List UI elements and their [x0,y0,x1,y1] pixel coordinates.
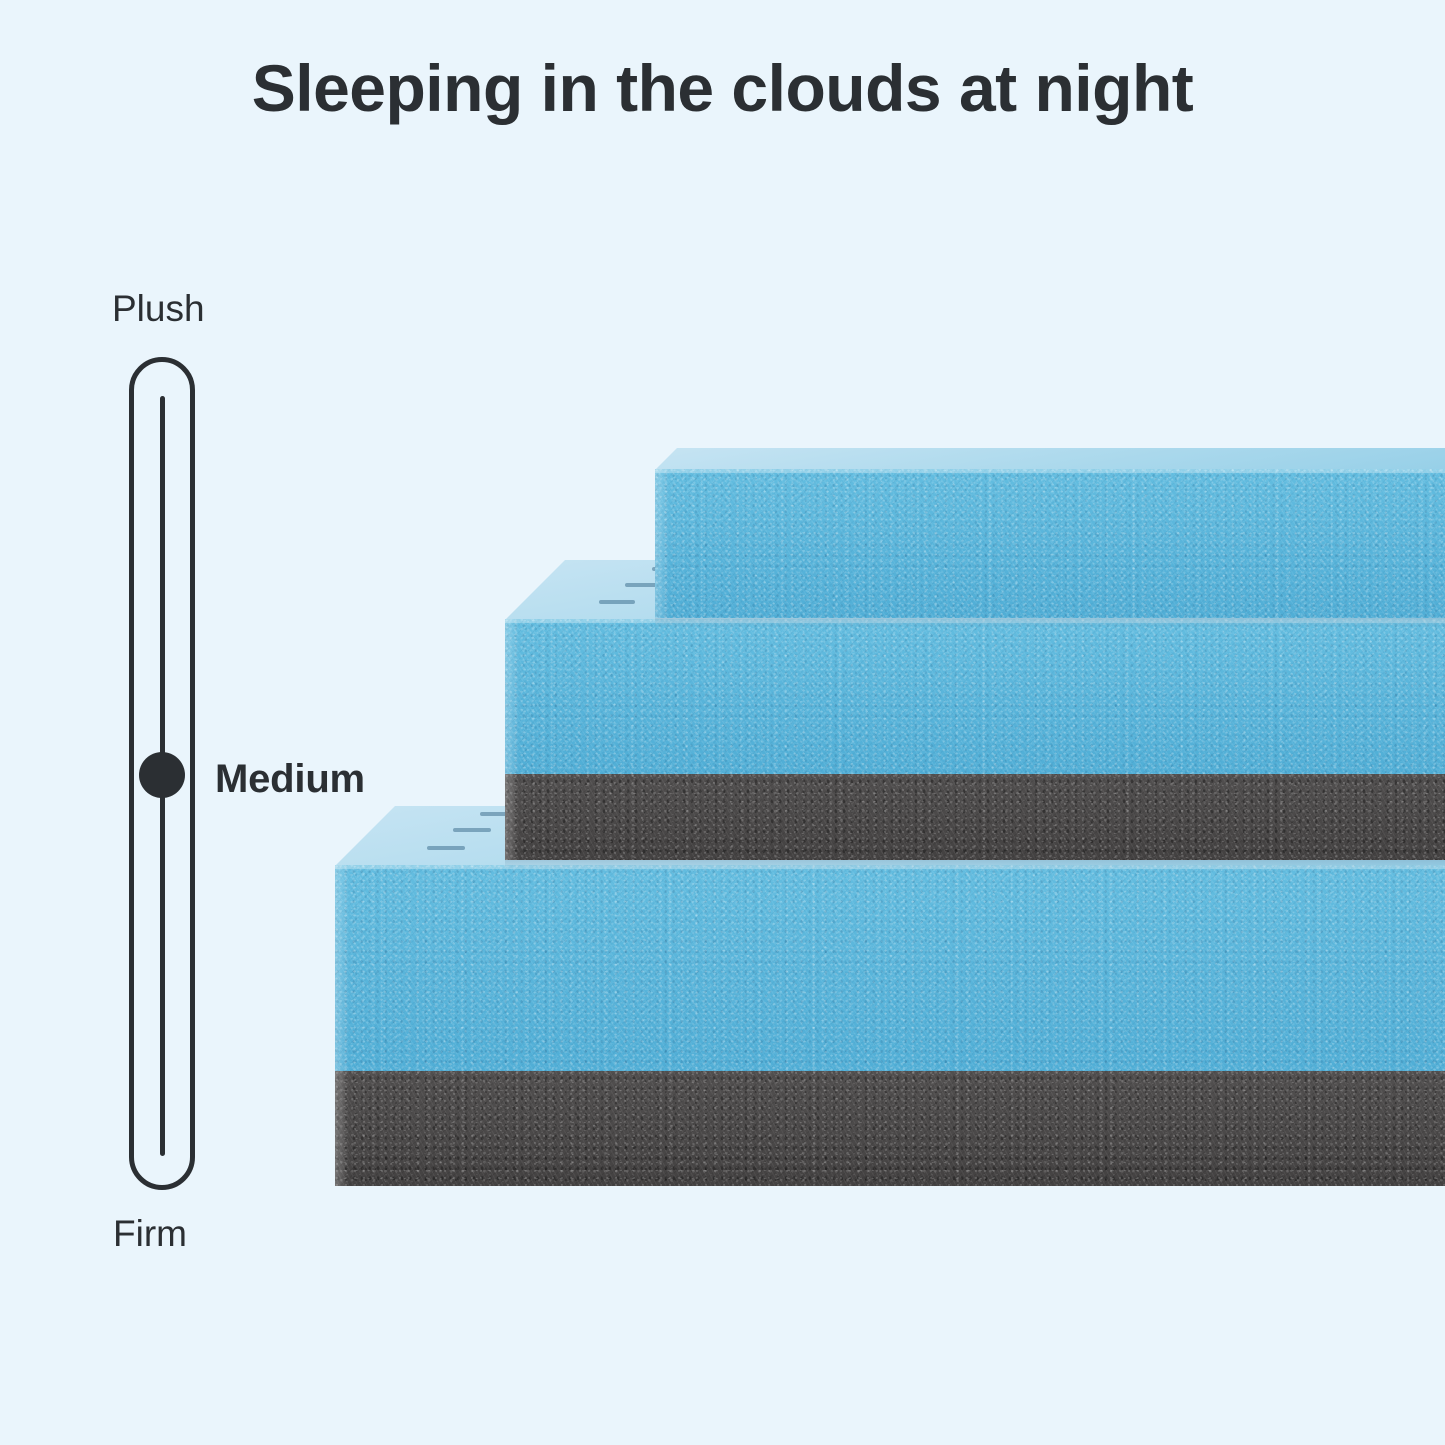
top-slab-blue-layer [655,469,1445,618]
top-slab [655,448,1445,618]
bottom-slab-front-face [335,865,1445,1186]
middle-slab-blue-layer [505,619,1445,774]
bottom-slab [335,806,1445,1186]
middle-slab-front-face [505,619,1445,860]
middle-slab-gray-layer [505,774,1445,860]
vent-slit [427,846,465,850]
vent-slit [453,828,491,832]
top-slab-top-surface [655,448,1445,470]
bottom-slab-blue-layer [335,865,1445,1071]
product-graphic-stage: Sleeping in the clouds at night [0,0,1445,1445]
foam-slab-stack [0,0,1445,1445]
firmness-slider-knob[interactable] [139,752,185,798]
vent-slit [599,600,635,604]
bottom-slab-gray-layer [335,1071,1445,1186]
top-slab-front-face [655,469,1445,618]
